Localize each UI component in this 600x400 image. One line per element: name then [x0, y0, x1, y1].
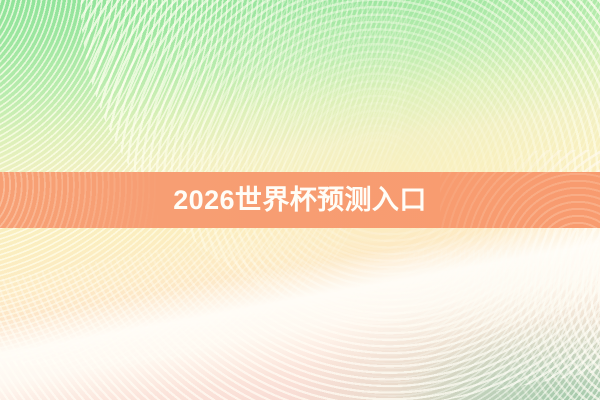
- page-title: 2026世界杯预测入口: [173, 187, 426, 214]
- banner-arcs-left-icon: [0, 172, 158, 228]
- cover-image: 2026世界杯预测入口: [0, 0, 600, 400]
- banner-arcs-right-icon: [440, 172, 600, 228]
- decor-waves-corner-icon: [350, 250, 600, 400]
- title-banner: 2026世界杯预测入口: [0, 172, 600, 228]
